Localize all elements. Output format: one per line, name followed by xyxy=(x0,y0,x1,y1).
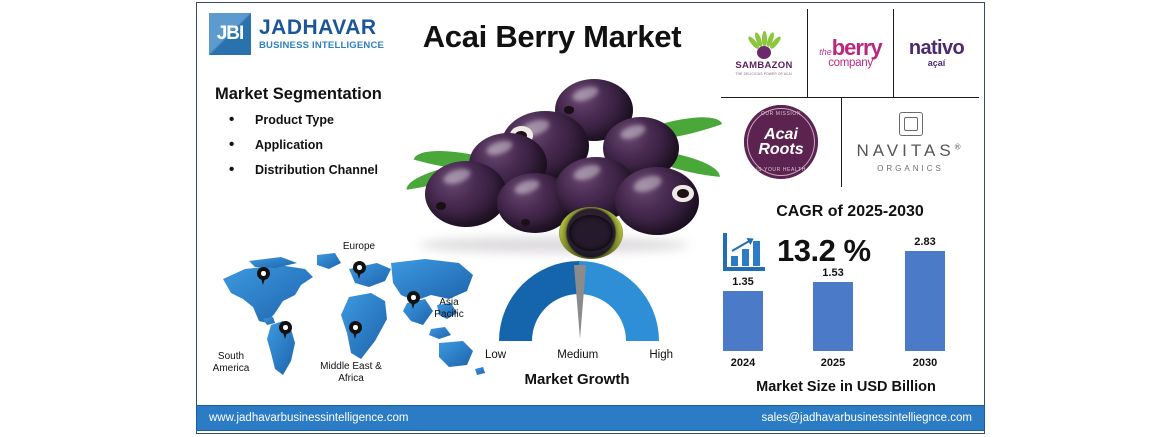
company-logo-grid: SAMBAZON THE DELICIOUS POWER OF ACAI the… xyxy=(721,9,979,189)
sambazon-berry-icon xyxy=(747,31,781,59)
berry-company-company: company xyxy=(828,58,873,69)
page-title: Acai Berry Market xyxy=(387,19,717,55)
chart-title: Market Size in USD Billion xyxy=(713,379,979,395)
jbi-logo-icon: JBI xyxy=(209,13,251,55)
bar-category-label: 2030 xyxy=(897,357,953,369)
sambazon-name: SAMBAZON xyxy=(735,60,792,71)
world-map: Europe Asia Pacific South America Middle… xyxy=(201,241,491,401)
berry-highlight xyxy=(512,178,540,197)
nativo-name: nativo xyxy=(909,39,964,58)
infographic-root: JBI JADHAVAR BUSINESS INTELLIGENCE Acai … xyxy=(0,0,1169,437)
berry-highlight xyxy=(571,84,600,104)
logo-cell-sambazon[interactable]: SAMBAZON THE DELICIOUS POWER OF ACAI xyxy=(721,9,807,97)
bar-rect xyxy=(813,282,853,351)
sambazon-tagline: THE DELICIOUS POWER OF ACAI xyxy=(736,72,793,76)
sambazon-logo: SAMBAZON THE DELICIOUS POWER OF ACAI xyxy=(734,31,793,76)
map-label-europe: Europe xyxy=(329,241,389,253)
gauge-caption: Market Growth xyxy=(477,371,677,388)
acai-roots-line2: Roots xyxy=(758,142,803,158)
berry-halved xyxy=(559,207,623,259)
jbi-logo-text: JBI xyxy=(217,23,244,45)
gauge-tick-high: High xyxy=(649,349,673,361)
berry-company-the: the xyxy=(819,48,832,56)
acai-roots-logo: OUR MISSION Acai Roots IS YOUR HEALTH xyxy=(744,105,818,179)
gauge-tick-low: Low xyxy=(485,349,506,361)
gauge-tick-labels: Low Medium High xyxy=(485,349,673,361)
bar-rect xyxy=(723,291,763,351)
berry-highlight xyxy=(572,162,602,183)
brand-logo[interactable]: JBI JADHAVAR BUSINESS INTELLIGENCE xyxy=(209,13,384,55)
navitas-name-text: NAVITAS xyxy=(856,141,954,160)
navitas-square-icon xyxy=(899,112,923,136)
logo-row-1: SAMBAZON THE DELICIOUS POWER OF ACAI the… xyxy=(721,9,979,98)
map-pin-south-america[interactable] xyxy=(279,321,292,339)
map-pin-middle-east-africa[interactable] xyxy=(349,321,362,339)
nativo-logo: nativo açaí xyxy=(909,39,964,68)
bar-value-label: 2.83 xyxy=(905,236,945,248)
bar-rect xyxy=(905,251,945,351)
navitas-logo: NAVITAS® ORGANICS xyxy=(856,112,964,173)
map-pin-europe[interactable] xyxy=(353,261,366,279)
berry-eye xyxy=(436,202,446,210)
footer-email[interactable]: sales@jadhavarbusinessintelliegnce.com xyxy=(762,412,972,424)
brand-wordmark: JADHAVAR BUSINESS INTELLIGENCE xyxy=(259,17,384,51)
map-label-middle-east-africa: Middle East & Africa xyxy=(311,361,391,384)
navitas-name: NAVITAS® xyxy=(856,141,964,161)
berry-eye xyxy=(564,106,573,113)
berry-eye xyxy=(672,185,694,203)
brand-tagline: BUSINESS INTELLIGENCE xyxy=(259,41,384,51)
berry xyxy=(425,161,507,227)
gauge-tick-medium: Medium xyxy=(557,349,598,361)
market-growth-gauge: Low Medium High Market Growth xyxy=(477,253,677,403)
logo-cell-nativo[interactable]: nativo açaí xyxy=(893,9,979,97)
map-pin-asia-pacific[interactable] xyxy=(407,291,420,309)
map-label-south-america: South America xyxy=(203,351,259,374)
market-size-bar-chart: 1.35 2024 1.53 2025 2.83 2030 xyxy=(713,243,979,373)
navitas-reg-mark: ® xyxy=(955,142,965,151)
navitas-sub: ORGANICS xyxy=(877,164,944,173)
acai-roots-bottom-text: IS YOUR HEALTH xyxy=(756,167,806,173)
berry-highlight xyxy=(618,122,646,142)
bar-value-label: 1.35 xyxy=(723,276,763,288)
footer-website[interactable]: www.jadhavarbusinessintelligence.com xyxy=(209,412,408,424)
cagr-label: CAGR of 2025-2030 xyxy=(725,203,975,221)
berry-highlight xyxy=(485,138,514,158)
berry-seeds xyxy=(569,215,613,250)
logo-row-2: OUR MISSION Acai Roots IS YOUR HEALTH NA… xyxy=(721,97,979,187)
berry-company-logo: the berry company xyxy=(819,38,882,69)
berry-company-berry: berry xyxy=(832,38,882,58)
map-label-asia-pacific: Asia Pacific xyxy=(425,297,473,320)
berry xyxy=(615,167,699,235)
acai-berries-image xyxy=(397,61,727,261)
logo-cell-navitas[interactable]: NAVITAS® ORGANICS xyxy=(841,97,979,187)
logo-cell-berry-company[interactable]: the berry company xyxy=(807,9,893,97)
map-pin-north-america[interactable] xyxy=(257,267,270,285)
berry-eye xyxy=(521,219,530,226)
logo-cell-acai-roots[interactable]: OUR MISSION Acai Roots IS YOUR HEALTH xyxy=(721,97,841,187)
berry-highlight xyxy=(632,172,663,194)
berry-highlight xyxy=(442,166,473,187)
brand-name: JADHAVAR xyxy=(259,17,384,38)
bar-category-label: 2025 xyxy=(805,357,861,369)
bar-value-label: 1.53 xyxy=(813,267,853,279)
bar-category-label: 2024 xyxy=(715,357,771,369)
acai-roots-top-text: OUR MISSION xyxy=(761,111,801,117)
footer-bar: www.jadhavarbusinessintelligence.com sal… xyxy=(196,405,985,431)
nativo-sub: açaí xyxy=(928,59,946,68)
gauge-needle xyxy=(574,265,586,339)
infographic-card: JBI JADHAVAR BUSINESS INTELLIGENCE Acai … xyxy=(196,2,985,434)
